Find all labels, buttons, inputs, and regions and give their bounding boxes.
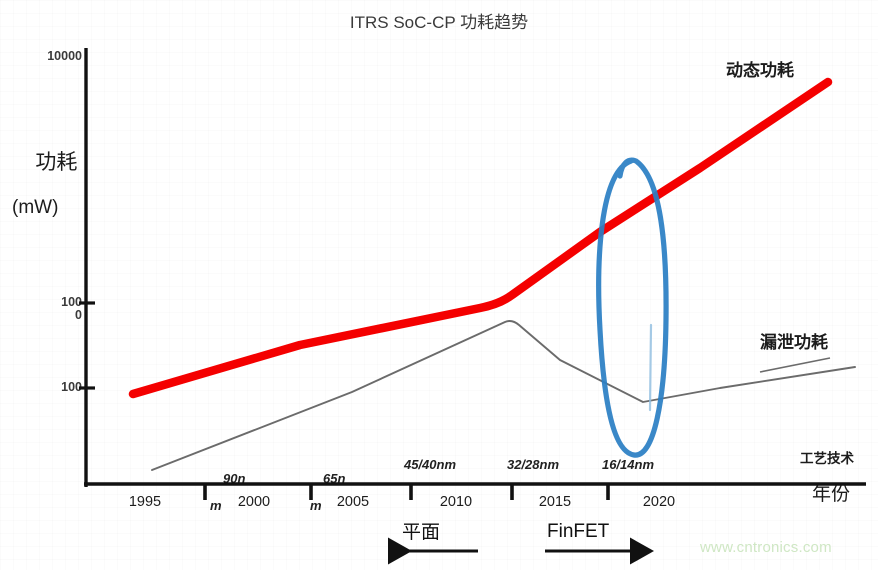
- chart-canvas: ITRS SoC-CP 功耗趋势 10000 1000 100 功耗 (mW) …: [0, 0, 878, 570]
- leakage-label-leader: [760, 358, 830, 372]
- highlight-ellipse-tail: [650, 325, 651, 410]
- series-line-dynamic-power: [133, 82, 828, 394]
- highlight-ellipse: [599, 160, 666, 455]
- series-line-leakage-power: [152, 321, 855, 470]
- chart-plot-area: [0, 0, 878, 570]
